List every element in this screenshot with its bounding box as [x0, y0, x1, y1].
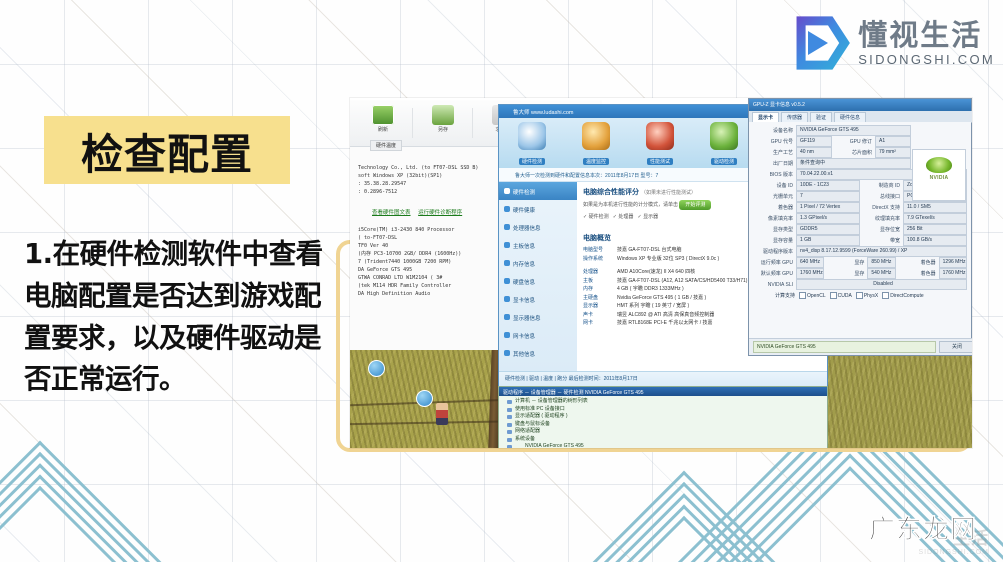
gpuz-row: 运行频率 GPU640 MHz显存850 MHz着色器1296 MHz — [753, 257, 967, 268]
tab-driver[interactable]: 驱动检测 — [693, 122, 755, 168]
system-text-block-2: i5Core(TM) i3-2430 840 Processor ( to-FT… — [358, 226, 461, 298]
sidebar-item-1[interactable]: 硬件健康 — [499, 200, 577, 218]
body-paragraph: 1.在硬件检测软件中查看电脑配置是否达到游戏配置要求，以及硬件驱动是否正常运行。 — [24, 234, 328, 401]
sidebar-item-0[interactable]: 硬件检测 — [499, 182, 577, 200]
sidebar-item-3[interactable]: 主板信息 — [499, 236, 577, 254]
checkbox-opencl[interactable]: OpenCL — [799, 292, 826, 299]
site-watermark: 广东龙网 — [869, 509, 977, 546]
gpuz-card-select[interactable]: NVIDIA GeForce GTS 495 — [753, 341, 936, 353]
temperature-tab[interactable]: 硬件温度 — [370, 140, 402, 151]
brand-name-cn: 懂视生活 — [858, 21, 995, 50]
gpuz-tab-info[interactable]: 硬件信息 — [834, 112, 866, 122]
gpuz-body: 设备名称NVIDIA GeForce GTS 495 GPU 代号GF119GP… — [749, 122, 971, 339]
tree-item[interactable]: 键盘与鼠标设备 — [505, 421, 588, 429]
gpuz-footer: NVIDIA GeForce GTS 495 关闭 — [749, 338, 972, 355]
monitor-blue-icon — [518, 122, 546, 150]
device-manager-window[interactable]: 驱动程序 － 设备管理器 － 硬件检测 NVIDIA GeForce GTS 4… — [498, 386, 828, 448]
letter-d-play-icon — [794, 14, 852, 72]
checkbox-physx[interactable]: PhysX — [856, 292, 878, 299]
sidebar-item-7[interactable]: 显示器信息 — [499, 308, 577, 326]
tree-item[interactable]: 计算机 － 设备管理器的树形列表 — [505, 398, 588, 406]
recycle-bin-icon[interactable] — [416, 390, 433, 407]
checkbox-directcompute[interactable]: DirectCompute — [882, 292, 923, 299]
nvidia-eye-glyph — [926, 157, 952, 173]
brand-logo: 懂视生活 SIDONGSHI.COM — [794, 14, 995, 72]
tree-item[interactable]: 网络适配器 — [505, 428, 588, 436]
gpuz-close-button[interactable]: 关闭 — [939, 341, 972, 353]
gpuz-row: NVIDIA SLIDisabled — [753, 279, 967, 290]
system-text-block-1: Technology Co., Ltd. (to FT07-DSL SSD B)… — [358, 164, 478, 196]
plant-green-icon — [710, 122, 738, 150]
gpuz-tab-sensors[interactable]: 传感器 — [781, 112, 808, 122]
gpuz-row: 显存容量1 GB带宽100.8 GB/s — [753, 235, 967, 246]
brand-name-en: SIDONGSHI.COM — [858, 53, 995, 66]
gpuz-tab-validation[interactable]: 验证 — [810, 112, 832, 122]
gpuz-row: 设备名称NVIDIA GeForce GTS 495 — [753, 125, 967, 136]
nvidia-logo-icon: NVIDIA — [912, 149, 966, 201]
checkbox-cuda[interactable]: CUDA — [830, 292, 852, 299]
ludashi-sidebar: 硬件检测 硬件健康 处理器信息 主板信息 内存信息 硬盘信息 显卡信息 显示器信… — [499, 182, 578, 371]
gauge-red-icon — [646, 122, 674, 150]
save-monitor-icon — [432, 105, 454, 125]
gpuz-row: 默认频率 GPU1760 MHz显存540 MHz着色器1760 MHz — [753, 268, 967, 279]
sidebar-item-6[interactable]: 显卡信息 — [499, 290, 577, 308]
refresh-green-icon — [372, 105, 394, 125]
tree-item[interactable]: NVIDIA GeForce GTS 495 — [505, 443, 588, 448]
tree-item[interactable]: 显示适配器 ( 驱动程序 ) — [505, 413, 588, 421]
page-title: 检查配置 — [44, 118, 290, 184]
gpuz-titlebar: GPU-Z 显卡信息 v0.5.2 — [749, 99, 971, 111]
tab-temperature[interactable]: 温度监控 — [565, 122, 627, 168]
gpuz-row: 像素填充率1.3 GPixel/s纹理填充率7.9 GTexel/s — [753, 213, 967, 224]
screenshot-image: 刷新 另存 求帮助 给一下 硬件温度 Technology Co., Ltd. … — [350, 98, 972, 448]
device-manager-tree: 计算机 － 设备管理器的树形列表 使用标准 PC 设备接口 显示适配器 ( 驱动… — [505, 398, 588, 448]
toolbar-separator — [412, 108, 413, 138]
toolbar-separator-2 — [472, 108, 473, 138]
sidebar-item-2[interactable]: 处理器信息 — [499, 218, 577, 236]
tool-links[interactable]: 查看硬件图文表 运行硬件诊断程序 — [372, 208, 462, 216]
toolbar-button-save[interactable]: 另存 — [416, 104, 470, 144]
gpuz-row: 驱动程序版本nv4_disp 8.17.12.9599 (ForceWare 2… — [753, 246, 967, 257]
gpuz-tab-graphics[interactable]: 显示卡 — [752, 112, 779, 122]
gpuz-row: GPU 代号GF119GPU 修订A1 — [753, 136, 967, 147]
tree-item[interactable]: 系统设备 — [505, 436, 588, 444]
computer-icon[interactable] — [368, 360, 385, 377]
sidebar-item-5[interactable]: 硬盘信息 — [499, 272, 577, 290]
toolbar-button-refresh[interactable]: 刷新 — [356, 104, 410, 144]
start-benchmark-button[interactable]: 开始评测 — [679, 200, 711, 210]
gpuz-window[interactable]: GPU-Z 显卡信息 v0.5.2 显示卡 传感器 验证 硬件信息 设备名称NV… — [748, 98, 972, 356]
thermometer-icon — [582, 122, 610, 150]
character-sprite-icon — [436, 403, 448, 425]
sidebar-item-9[interactable]: 其他信息 — [499, 344, 577, 362]
device-manager-selected-row[interactable]: 驱动程序 － 设备管理器 － 硬件检测 NVIDIA GeForce GTS 4… — [499, 387, 827, 396]
gpuz-row: 着色器1 Pixel / 72 VertexDirectX 支持11.0 / S… — [753, 202, 967, 213]
gpuz-row: 显存类型GDDR5显存位宽256 Bit — [753, 224, 967, 235]
tab-benchmark[interactable]: 性能测试 — [629, 122, 691, 168]
sidebar-item-8[interactable]: 网卡信息 — [499, 326, 577, 344]
gpuz-compute-support: 计算支持 OpenCL CUDA PhysX DirectCompute — [753, 292, 967, 299]
sidebar-item-4[interactable]: 内存信息 — [499, 254, 577, 272]
tab-hardware-detect[interactable]: 硬件检测 — [501, 122, 563, 168]
tree-item[interactable]: 使用标准 PC 设备接口 — [505, 406, 588, 414]
